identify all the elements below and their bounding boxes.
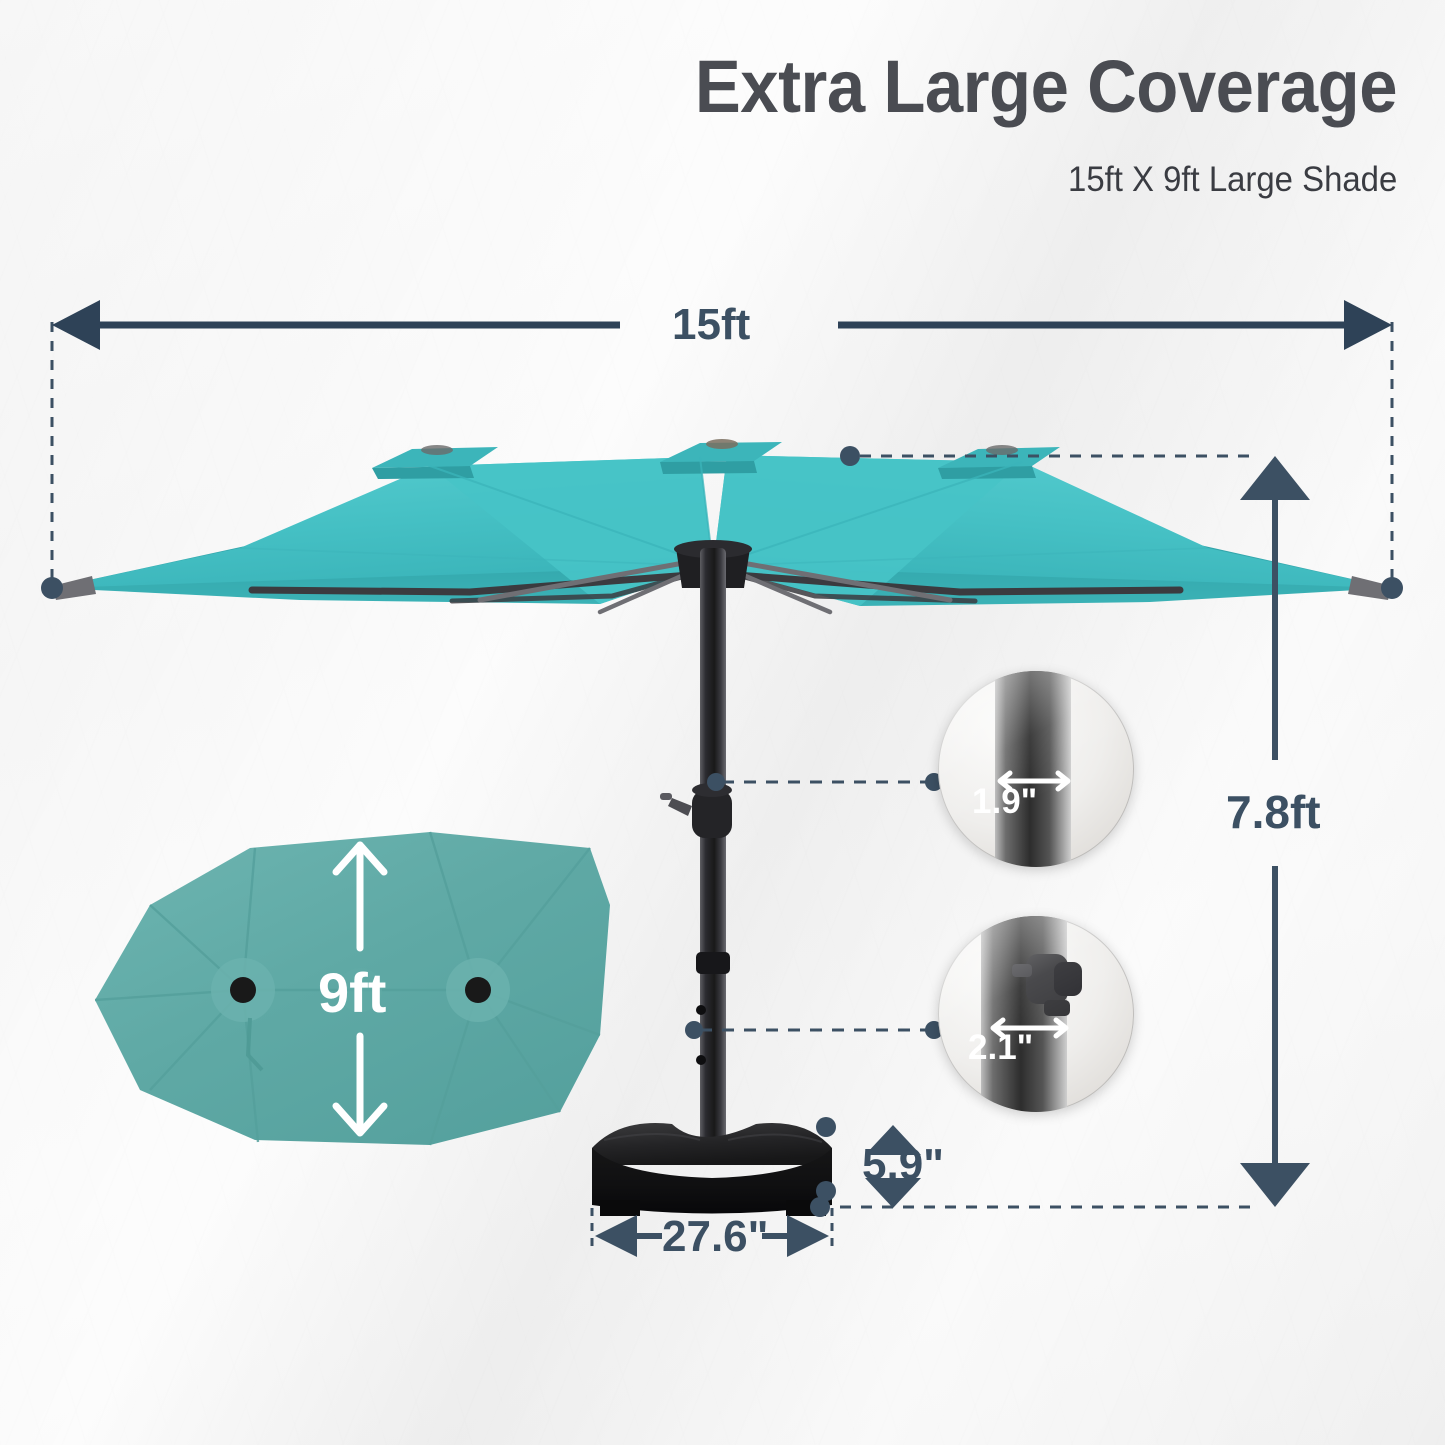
callout-magnifier-pole-lower: [938, 916, 1134, 1112]
page-subtitle: 15ft X 9ft Large Shade: [1068, 160, 1397, 200]
dimension-label-pole-lower-diameter: 2.1": [968, 1028, 1033, 1068]
umbrella-main-view: [52, 439, 1392, 1216]
page-title: Extra Large Coverage: [695, 44, 1397, 129]
dimension-label-height: 7.8ft: [1226, 785, 1321, 839]
crank-handle: [660, 783, 732, 838]
callout-arrow-2-1: [938, 916, 1134, 1112]
arrow-15ft-left: [52, 300, 620, 350]
infographic-canvas: Extra Large Coverage 15ft X 9ft Large Sh…: [0, 0, 1445, 1445]
callout-arrow-1-9: [938, 671, 1134, 867]
callout-magnifier-pole-upper: [938, 671, 1134, 867]
dimension-label-width: 15ft: [672, 300, 750, 350]
dimension-annotations: [41, 300, 1403, 1257]
dimension-label-base-width: 27.6": [662, 1212, 769, 1262]
umbrella-base: [592, 1123, 832, 1216]
dimension-label-pole-diameter: 1.9": [972, 782, 1037, 822]
dimension-label-base-height: 5.9": [862, 1140, 944, 1190]
dimension-label-depth: 9ft: [318, 960, 386, 1025]
arrow-15ft-right: [838, 300, 1392, 350]
